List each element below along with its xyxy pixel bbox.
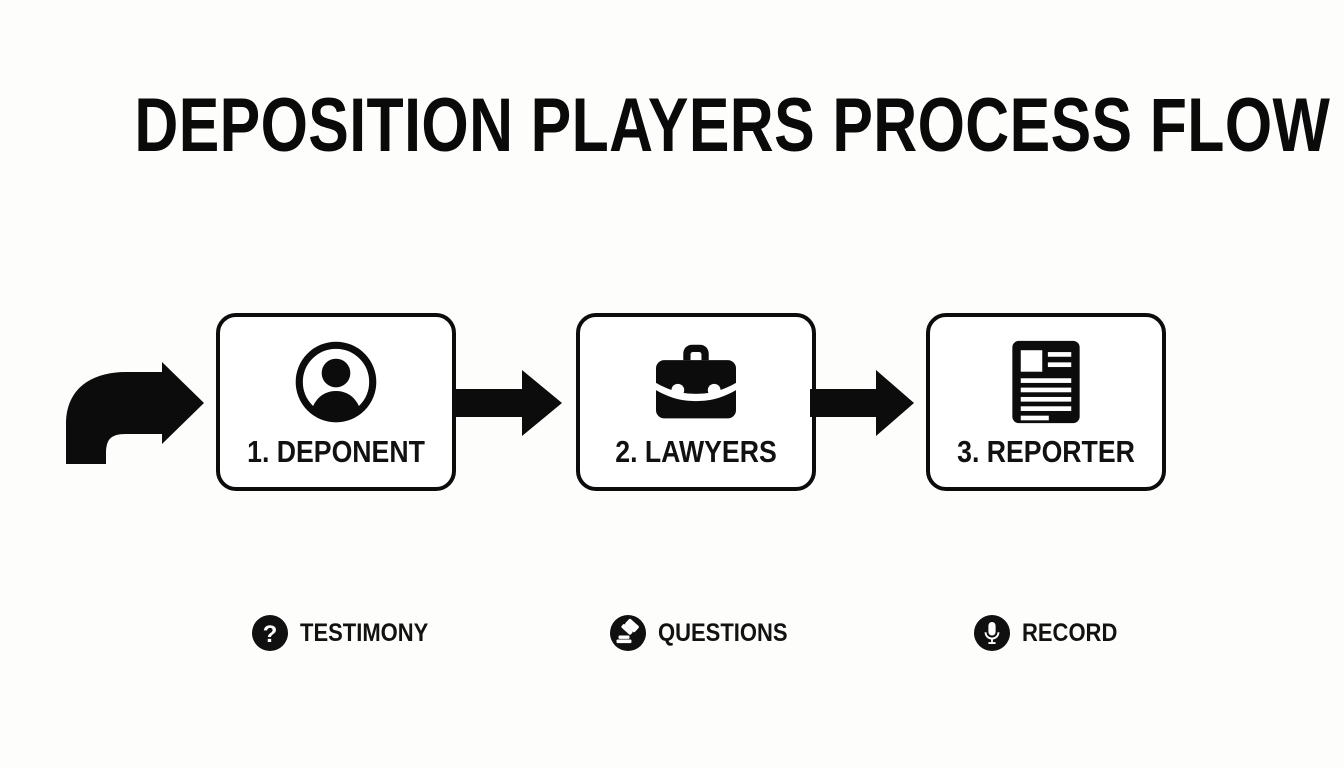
person-circle-icon [220,339,452,425]
briefcase-icon [580,339,812,425]
page-title: DEPOSITION PLAYERS PROCESS FLOW [134,88,1209,164]
svg-text:?: ? [263,621,278,648]
arrow-right-icon-1 [452,368,564,438]
legend-item-record[interactable]: RECORD [974,612,1130,654]
flow-step-deponent[interactable]: 1. DEPONENT [216,313,456,491]
entry-curved-arrow-icon [58,362,208,464]
legend-label: TESTIMONY [300,620,428,646]
flow-step-label: 2. LAWYERS [596,435,796,469]
flow-step-lawyers[interactable]: 2. LAWYERS [576,313,816,491]
legend-label: QUESTIONS [658,620,788,646]
legend-item-questions[interactable]: QUESTIONS [610,612,805,654]
question-mark-icon: ? [252,615,288,651]
legend-item-testimony[interactable]: ? TESTIMONY [252,612,446,654]
flow-step-label: 1. DEPONENT [236,435,436,469]
arrow-right-icon-2 [810,368,916,438]
gavel-icon [610,615,646,651]
flow-step-label: 3. REPORTER [946,435,1146,469]
diagram-canvas: DEPOSITION PLAYERS PROCESS FLOW 1. DEPON… [0,0,1344,768]
microphone-icon [974,615,1010,651]
legend-label: RECORD [1022,620,1117,646]
document-icon [930,339,1162,425]
flow-step-reporter[interactable]: 3. REPORTER [926,313,1166,491]
